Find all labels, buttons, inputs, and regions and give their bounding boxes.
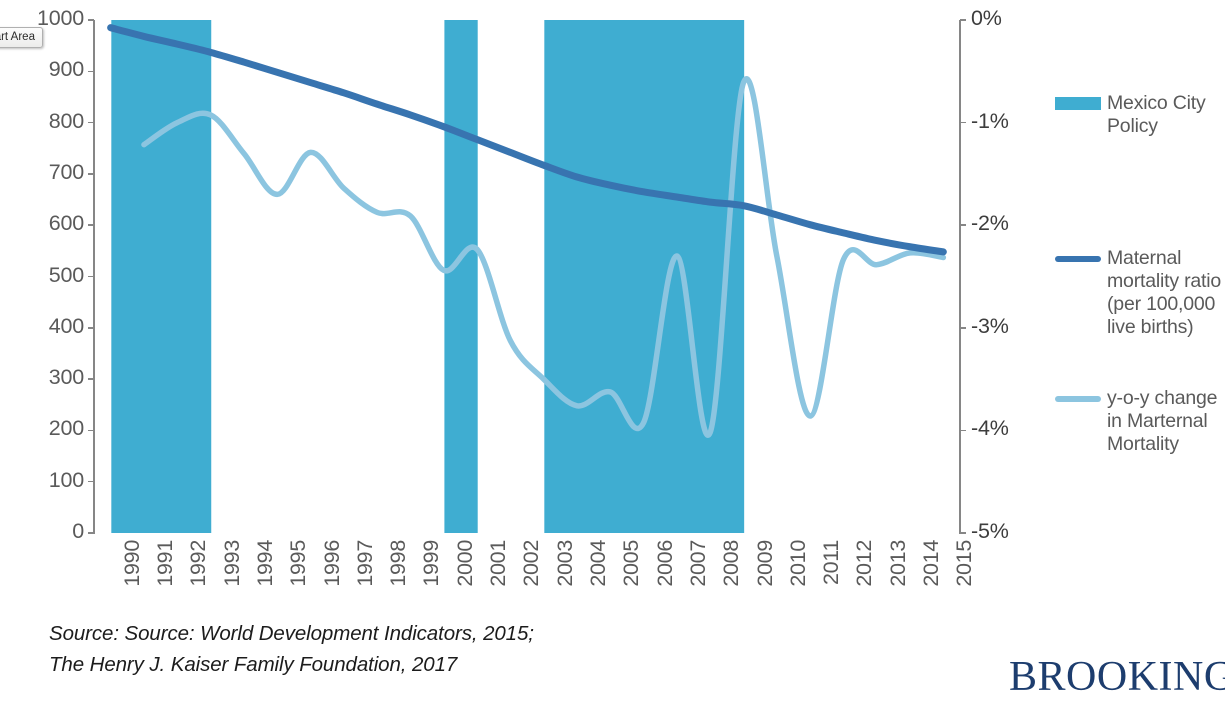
- x-axis-tick-label: 2009: [753, 540, 778, 587]
- x-axis-tick-label: 2008: [719, 540, 744, 587]
- x-axis-tick-label: 1994: [253, 540, 278, 587]
- right-axis-tick-label: -5%: [971, 519, 1051, 544]
- right-axis-tick: [960, 224, 966, 226]
- x-axis-tick-label: 2015: [952, 540, 977, 587]
- legend-item-label: Mexico City Policy: [1107, 92, 1225, 138]
- source-note: Source: Source: World Development Indica…: [49, 618, 534, 680]
- source-line-2: The Henry J. Kaiser Family Foundation, 2…: [49, 649, 534, 680]
- x-axis-tick-label: 1993: [220, 540, 245, 587]
- x-axis-tick-label: 2014: [919, 540, 944, 587]
- legend-item[interactable]: Mexico City Policy: [1055, 92, 1225, 138]
- yoy-change-line: [144, 79, 943, 436]
- x-axis-tick-label: 1990: [120, 540, 145, 587]
- left-axis-tick-label: 300: [0, 365, 84, 390]
- left-axis-tick-label: 400: [0, 314, 84, 339]
- right-axis-tick-label: -2%: [971, 211, 1051, 236]
- left-axis-tick-label: 200: [0, 416, 84, 441]
- left-axis-tick-label: 100: [0, 468, 84, 493]
- x-axis-tick-label: 2001: [486, 540, 511, 587]
- right-axis-tick: [960, 19, 966, 21]
- x-axis-tick-label: 2013: [886, 540, 911, 587]
- right-axis-tick: [960, 327, 966, 329]
- left-axis-tick-label: 800: [0, 109, 84, 134]
- x-axis-labels: 1990199119921993199419951996199719981999…: [94, 534, 960, 614]
- left-axis-tick-label: 500: [0, 263, 84, 288]
- legend-swatch-line-icon: [1055, 396, 1101, 402]
- plot-area: [94, 20, 960, 533]
- left-axis-tick-label: 900: [0, 57, 84, 82]
- mexico-city-policy-band: [544, 20, 744, 533]
- left-axis-tick-label: 700: [0, 160, 84, 185]
- legend-item[interactable]: Maternal mortality ratio (per 100,000 li…: [1055, 247, 1225, 339]
- x-axis-tick-label: 2003: [553, 540, 578, 587]
- x-axis-tick-label: 1997: [353, 540, 378, 587]
- x-axis-tick-label: 2000: [453, 540, 478, 587]
- plot-svg: [94, 20, 960, 533]
- brookings-logo: BROOKINGS: [1009, 653, 1225, 701]
- x-axis-tick-label: 1998: [386, 540, 411, 587]
- x-axis-tick-label: 2010: [786, 540, 811, 587]
- x-axis-tick-label: 2007: [686, 540, 711, 587]
- x-axis-tick-label: 2011: [819, 540, 844, 585]
- x-axis-tick-label: 1996: [320, 540, 345, 587]
- legend-item-label: Maternal mortality ratio (per 100,000 li…: [1107, 247, 1225, 339]
- x-axis-tick-label: 1992: [186, 540, 211, 587]
- chart-area-tooltip-label: Chart Area: [0, 31, 35, 43]
- x-axis-tick-label: 1991: [153, 540, 178, 587]
- legend-swatch-bar-icon: [1055, 97, 1101, 110]
- right-axis-tick-label: -3%: [971, 314, 1051, 339]
- left-axis-tick-label: 0: [0, 519, 84, 544]
- source-line-1: Source: Source: World Development Indica…: [49, 618, 534, 649]
- right-axis-tick: [960, 430, 966, 432]
- right-axis-tick-label: -4%: [971, 416, 1051, 441]
- right-axis-tick-label: 0%: [971, 6, 1051, 31]
- right-axis-tick: [960, 532, 966, 534]
- x-axis-tick-label: 2012: [852, 540, 877, 587]
- x-axis-tick-label: 2004: [586, 540, 611, 587]
- left-axis-tick-label: 600: [0, 211, 84, 236]
- right-axis-tick-label: -1%: [971, 109, 1051, 134]
- chart-figure: Chart Area 01002003004005006007008009001…: [0, 0, 1225, 708]
- legend-item-label: y-o-y change in Marternal Mortality: [1107, 387, 1225, 456]
- mexico-city-policy-band: [444, 20, 477, 533]
- x-axis-tick-label: 2006: [653, 540, 678, 587]
- legend-item[interactable]: y-o-y change in Marternal Mortality: [1055, 387, 1225, 456]
- x-axis-tick-label: 1999: [419, 540, 444, 587]
- x-axis-tick-label: 2002: [519, 540, 544, 587]
- x-axis-tick-label: 2005: [619, 540, 644, 587]
- x-axis-tick-label: 1995: [286, 540, 311, 587]
- right-axis-tick: [960, 122, 966, 124]
- legend-swatch-line-icon: [1055, 256, 1101, 262]
- chart-area-tooltip: Chart Area: [0, 27, 43, 48]
- mexico-city-policy-band: [111, 20, 211, 533]
